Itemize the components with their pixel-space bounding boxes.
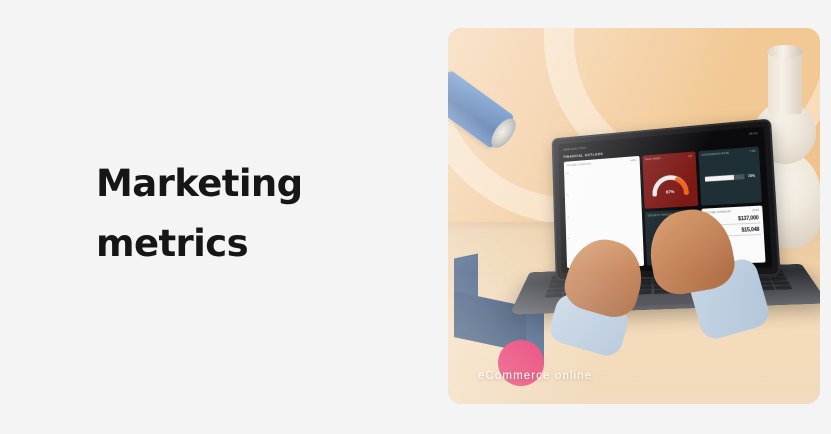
- topbar-clock: 08:42: [749, 132, 758, 136]
- card-conversion-rate[interactable]: CONVERSION RATE YTD 73%: [698, 146, 762, 205]
- y-tick: 50: [567, 216, 570, 218]
- vase-lip: [767, 45, 803, 58]
- page-title: Marketing metrics: [96, 154, 416, 274]
- hero-photo: WEB ANALYTICS 08:42 FINANCIAL OUTLOOK IN…: [448, 28, 820, 404]
- income-row-value: $137,000: [738, 215, 759, 222]
- conversion-value: 73%: [748, 174, 755, 179]
- y-tick: 100: [566, 173, 569, 175]
- card-risk-gauge[interactable]: RISK INDEX Q4 67%: [642, 151, 698, 208]
- y-tick: 75: [567, 194, 570, 196]
- semicircle-gauge: 67%: [650, 172, 690, 195]
- conversion-progress-wrap: 73%: [705, 173, 756, 181]
- card-risk-gauge-label: RISK INDEX: [645, 157, 661, 161]
- card-conversion-badge: YTD: [750, 150, 756, 154]
- card-conversion-label: CONVERSION RATE: [701, 152, 729, 157]
- risk-gauge-value: 67%: [666, 189, 675, 195]
- card-conversion-header: CONVERSION RATE YTD: [701, 150, 755, 157]
- progress-bar-fill: [705, 175, 734, 182]
- card-bar-chart-label: INCOME OVERVIEW: [567, 163, 592, 168]
- card-income-badge: 2024: [752, 209, 759, 212]
- topbar-app-label: WEB ANALYTICS: [563, 147, 586, 152]
- photo-caption: eCommerce online: [478, 370, 592, 382]
- card-risk-gauge-header: RISK INDEX Q4: [645, 155, 692, 162]
- hero-copy: Marketing metrics: [96, 154, 416, 274]
- card-bar-chart-badge: +46%: [630, 159, 637, 162]
- y-tick: 25: [568, 238, 571, 240]
- card-bar-chart-header: INCOME OVERVIEW +46%: [567, 159, 637, 167]
- bar-chart-y-axis: 100 75 50 25 0: [566, 173, 572, 262]
- income-row-value: $15,048: [741, 226, 759, 233]
- card-risk-gauge-badge: Q4: [689, 155, 693, 158]
- progress-bar-track: [705, 174, 745, 181]
